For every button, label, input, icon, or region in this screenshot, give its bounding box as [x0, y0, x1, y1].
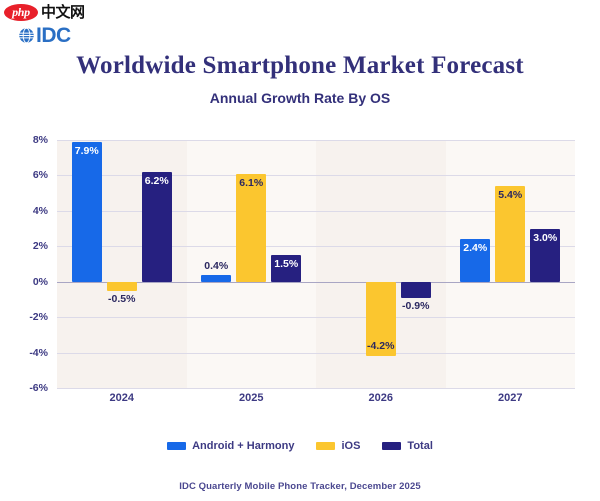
x-axis-tick-2026: 2026 — [316, 392, 446, 404]
bar-label-android-2025: 0.4% — [192, 260, 240, 272]
x-axis-tick-2024: 2024 — [57, 392, 187, 404]
y-axis-tick: -2% — [4, 311, 48, 323]
x-axis-tick-2027: 2027 — [446, 392, 576, 404]
bar-label-total-2027: 3.0% — [521, 232, 569, 244]
x-axis-tick-2025: 2025 — [187, 392, 317, 404]
bar-label-ios-2024: -0.5% — [98, 293, 146, 305]
legend-swatch-ios — [316, 442, 335, 450]
bar-total-2026 — [401, 282, 431, 298]
legend-label-total: Total — [407, 440, 432, 452]
bar-android-2025 — [201, 275, 231, 282]
chart-source-note: IDC Quarterly Mobile Phone Tracker, Dece… — [0, 481, 600, 492]
y-axis-tick: 0% — [4, 276, 48, 288]
bar-label-total-2026: -0.9% — [392, 300, 440, 312]
y-axis-tick: 4% — [4, 205, 48, 217]
legend-swatch-android — [167, 442, 186, 450]
bar-label-android-2027: 2.4% — [451, 242, 499, 254]
gridline--6 — [57, 388, 575, 389]
y-axis-tick: 8% — [4, 134, 48, 146]
bar-label-ios-2025: 6.1% — [227, 177, 275, 189]
gridline--2 — [57, 317, 575, 318]
gridline-8 — [57, 140, 575, 141]
bar-chart: 7.9%0.4%2.4%-0.5%6.1%-4.2%5.4%6.2%1.5%-0… — [0, 0, 600, 501]
legend-item-ios[interactable]: iOS — [316, 440, 360, 452]
bar-label-ios-2026: -4.2% — [357, 340, 405, 352]
bar-ios-2024 — [107, 282, 137, 291]
plot-area: 7.9%0.4%2.4%-0.5%6.1%-4.2%5.4%6.2%1.5%-0… — [57, 140, 575, 388]
y-axis-tick: -6% — [4, 382, 48, 394]
bar-label-total-2025: 1.5% — [262, 258, 310, 270]
chart-legend: Android + HarmonyiOSTotal — [0, 440, 600, 452]
legend-label-ios: iOS — [341, 440, 360, 452]
y-axis-tick: 2% — [4, 240, 48, 252]
legend-item-android[interactable]: Android + Harmony — [167, 440, 294, 452]
bar-android-2024 — [72, 142, 102, 282]
y-axis-tick: 6% — [4, 169, 48, 181]
bar-label-ios-2027: 5.4% — [486, 189, 534, 201]
legend-label-android: Android + Harmony — [192, 440, 294, 452]
y-axis-tick: -4% — [4, 347, 48, 359]
legend-swatch-total — [382, 442, 401, 450]
bar-label-android-2024: 7.9% — [63, 145, 111, 157]
gridline--4 — [57, 353, 575, 354]
bar-label-total-2024: 6.2% — [133, 175, 181, 187]
legend-item-total[interactable]: Total — [382, 440, 432, 452]
bar-total-2024 — [142, 172, 172, 282]
